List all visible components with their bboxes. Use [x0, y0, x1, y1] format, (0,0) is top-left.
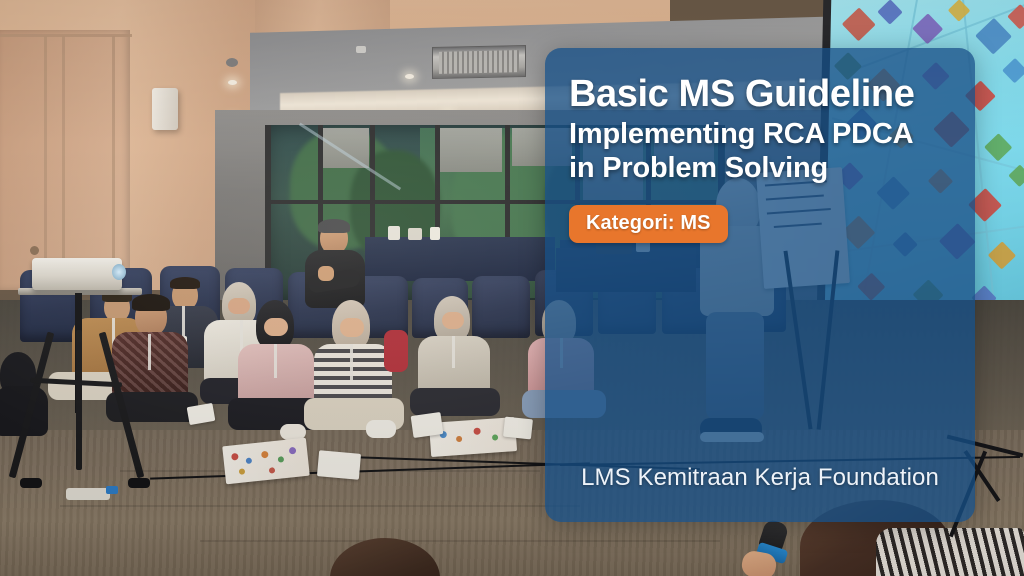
partition-seam [62, 36, 65, 286]
cup [430, 227, 440, 240]
subtitle-line-1: Implementing RCA PDCA [569, 118, 951, 152]
downlight [405, 74, 414, 79]
thumbnail-stage: Basic MS Guideline Implementing RCA PDCA… [0, 0, 1024, 576]
partition-seam [112, 36, 115, 286]
tripod-foot [128, 478, 150, 488]
subtitle-line-2: in Problem Solving [569, 152, 951, 186]
back-table [365, 237, 555, 281]
cup [388, 226, 400, 240]
window-blind [440, 128, 502, 172]
course-info-card: Basic MS Guideline Implementing RCA PDCA… [545, 48, 975, 522]
projector [32, 258, 122, 290]
wall-partition [0, 30, 130, 290]
ceiling-fixture [356, 46, 366, 53]
page-title: Basic MS Guideline [569, 74, 951, 114]
power-strip [66, 488, 110, 500]
floor-paper [503, 417, 533, 440]
partition-seam [44, 36, 47, 286]
door-knob [30, 246, 39, 255]
downlight [228, 80, 237, 85]
partition-top-rail [0, 34, 132, 37]
plate [408, 228, 422, 240]
tripod-foot [20, 478, 42, 488]
ceiling-sensor-icon [226, 58, 238, 67]
plug [106, 486, 118, 494]
card-spacer [569, 243, 951, 464]
tripod-leg [76, 330, 82, 470]
chair [472, 276, 530, 338]
organization-name: LMS Kemitraan Kerja Foundation [569, 464, 951, 522]
floor-notebook [411, 412, 444, 438]
ac-vent-icon [432, 45, 526, 79]
wall-speaker [152, 88, 178, 130]
floor-paper [317, 450, 361, 480]
projector-lens-icon [112, 264, 126, 280]
category-badge[interactable]: Kategori: MS [569, 205, 728, 243]
